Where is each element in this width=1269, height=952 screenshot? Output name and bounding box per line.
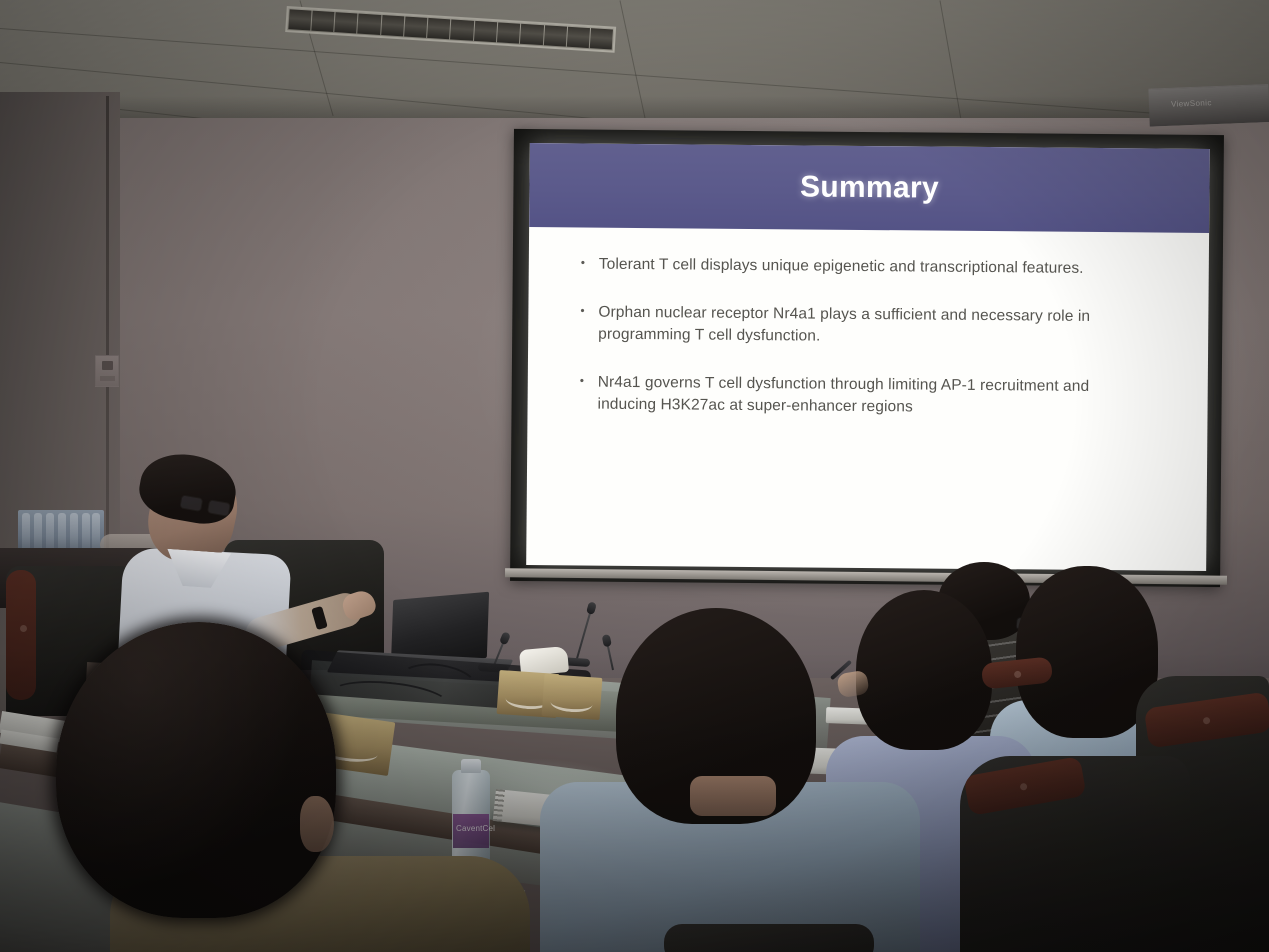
presentation-slide: Summary • Tolerant T cell displays uniqu…: [526, 143, 1210, 571]
wall-device-brand-label: ViewSonic: [1171, 98, 1212, 109]
attendee-head: [56, 622, 336, 918]
ceiling-light-vent: [285, 6, 616, 53]
slide-header: Summary: [529, 143, 1210, 233]
bullet-marker-icon: •: [579, 371, 597, 415]
tissue-box: [542, 674, 603, 720]
slide-body: • Tolerant T cell displays unique epigen…: [527, 227, 1209, 421]
chair-headrest: [664, 924, 874, 952]
bullet-marker-icon: •: [581, 253, 599, 275]
notebook-spiral-binding: [493, 789, 505, 822]
conference-room-scene: ViewSonic Summary • Tolerant T cell disp…: [0, 0, 1269, 952]
slide-bullet: • Orphan nuclear receptor Nr4a1 plays a …: [580, 301, 1168, 350]
slide-title: Summary: [800, 170, 939, 205]
projection-screen: Summary • Tolerant T cell displays uniqu…: [510, 129, 1224, 587]
bullet-marker-icon: •: [580, 301, 598, 345]
bottle-label: CaventCel: [453, 814, 489, 848]
wall-mounted-device: ViewSonic: [1148, 84, 1269, 127]
slide-bullet: • Tolerant T cell displays unique epigen…: [581, 253, 1169, 280]
bottle-cap: [461, 759, 481, 773]
slide-bullet-text: Nr4a1 governs T cell dysfunction through…: [597, 372, 1127, 421]
wall-sign: [95, 355, 119, 387]
slide-bullet: • Nr4a1 governs T cell dysfunction throu…: [579, 371, 1167, 420]
slide-bullet-text: Orphan nuclear receptor Nr4a1 plays a su…: [598, 302, 1128, 351]
attendee-neck: [690, 776, 776, 816]
attendee-ear: [300, 796, 334, 852]
slide-bullet-text: Tolerant T cell displays unique epigenet…: [599, 254, 1129, 281]
chair-armrest: [6, 570, 36, 700]
attendee-head: [856, 590, 992, 750]
bottle-label-text: CaventCel: [456, 824, 495, 833]
